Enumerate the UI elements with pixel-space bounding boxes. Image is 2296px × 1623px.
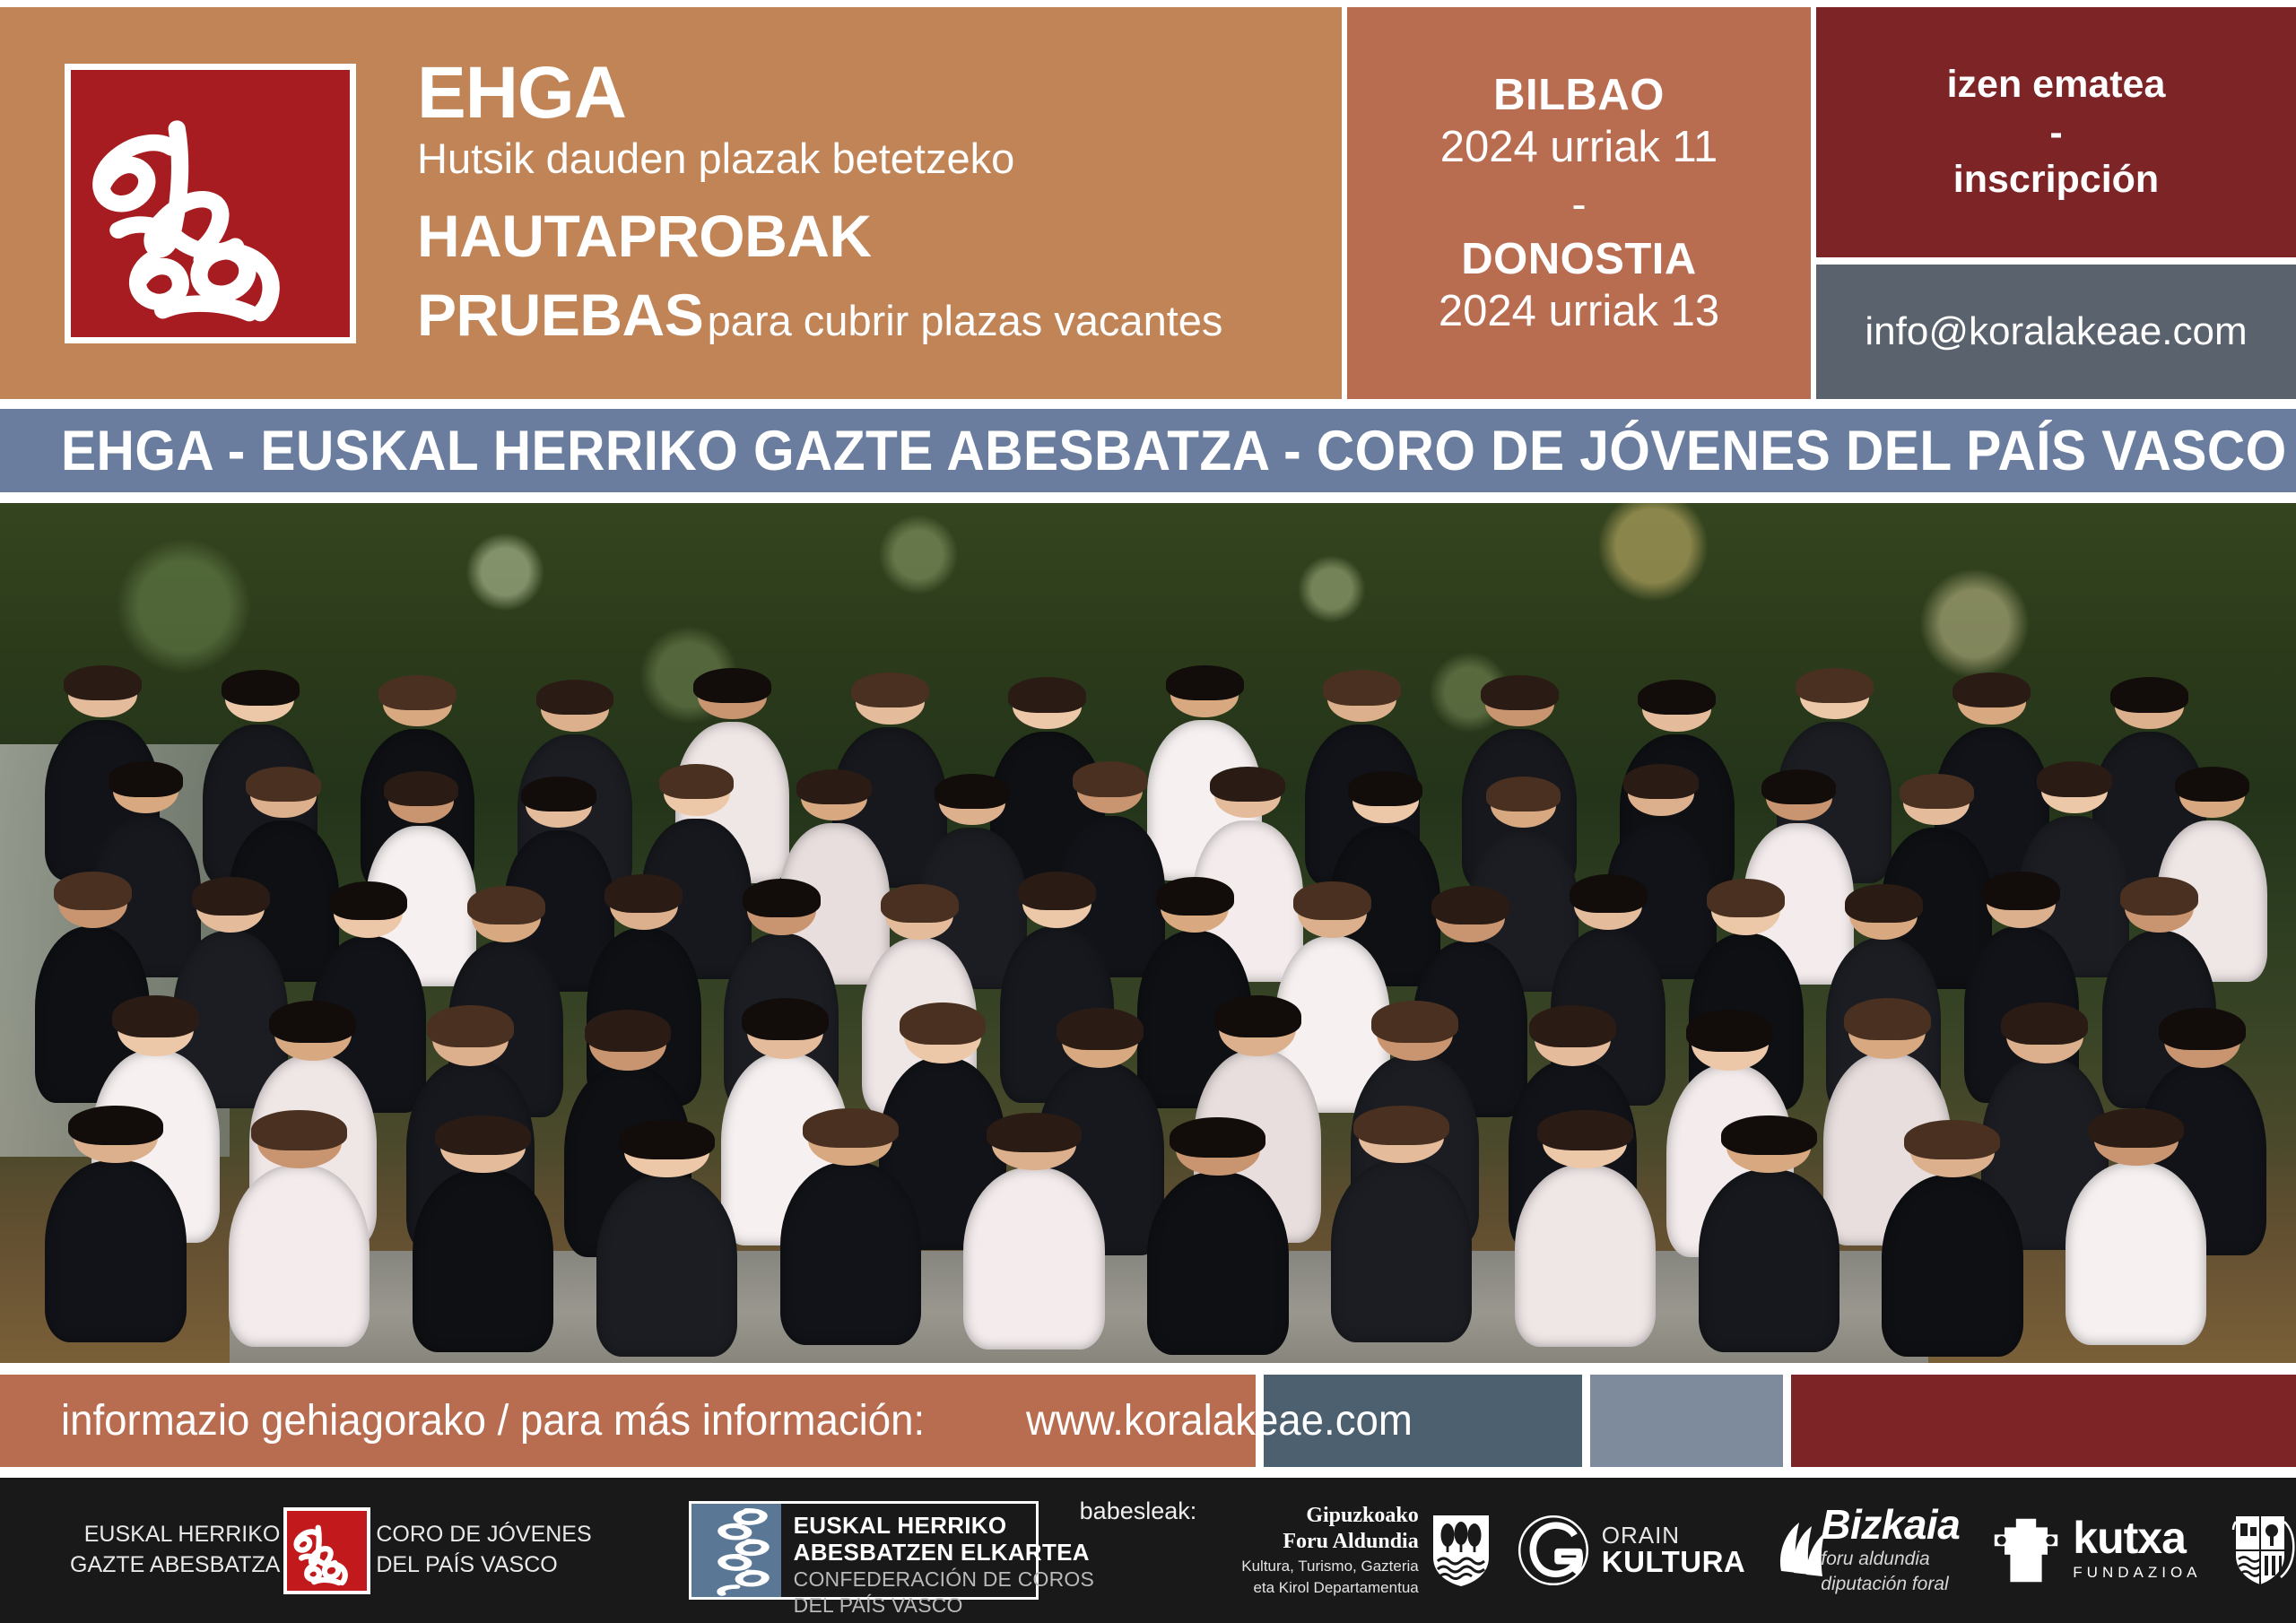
gipuzkoa-text: Gipuzkoako Foru Aldundia Kultura, Turism…	[1241, 1503, 1418, 1597]
kutxa-line2: FUNDAZIOA	[2073, 1562, 2201, 1584]
city-2-label: DONOSTIA	[1461, 234, 1697, 284]
header-title-basque: HAUTAPROBAK	[417, 202, 1222, 272]
gipuzkoa-line2: Foru Aldundia	[1241, 1529, 1418, 1554]
registration-label-spanish: inscripción	[1953, 158, 2159, 202]
eha-footer-logo: EUSKAL HERRIKO ABESBATZEN ELKARTEA CONFE…	[689, 1501, 1039, 1600]
orain-g-icon	[1516, 1513, 1591, 1588]
poster-header: EHGA Hutsik dauden plazak betetzeko HAUT…	[0, 7, 2296, 399]
header-main-panel: EHGA Hutsik dauden plazak betetzeko HAUT…	[0, 7, 1342, 399]
bizkaia-line2: foru aldundia	[1821, 1548, 1960, 1570]
gipuzkoa-line3: Kultura, Turismo, Gazteria	[1241, 1558, 1418, 1575]
choir-group-photo	[0, 503, 2296, 1363]
registration-separator: -	[2049, 114, 2062, 152]
poster-root: EHGA Hutsik dauden plazak betetzeko HAUT…	[0, 0, 2296, 1623]
orain-text: ORAIN KULTURA	[1602, 1523, 1746, 1578]
sponsor-kutxa-fundazioa: kutxa FUNDAZIOA	[1990, 1515, 2201, 1586]
dates-separator: -	[1571, 183, 1586, 227]
city-1-label: BILBAO	[1493, 70, 1665, 120]
eha-chain-logo-icon	[691, 1504, 781, 1597]
sponsor-eusko-jaurlaritza: EUSKO JAURLARITZA GOBIERNO VASCO KULTURA…	[2229, 1496, 2296, 1604]
sponsor-gipuzkoako-foru-aldundia: Gipuzkoako Foru Aldundia Kultura, Turism…	[1241, 1503, 1492, 1597]
sponsor-orain-kultura: ORAIN KULTURA	[1516, 1513, 1746, 1588]
bizkaia-line3: diputación foral	[1821, 1573, 1960, 1595]
website-link[interactable]: www.koralakeae.com	[1026, 1396, 1413, 1445]
date-1-label: 2024 urriak 11	[1440, 122, 1718, 172]
gipuzkoa-line4: eta Kirol Departamentua	[1241, 1579, 1418, 1597]
bizkaia-leaf-icon	[1776, 1517, 1826, 1584]
more-info-panel: informazio gehiagorako / para más inform…	[0, 1375, 1256, 1467]
gipuzkoa-line1: Gipuzkoako	[1241, 1503, 1418, 1528]
header-subtitle-spanish: para cubrir plazas vacantes	[708, 297, 1223, 344]
registration-label-basque: izen ematea	[1947, 63, 2166, 107]
ehga-footer-basque-line2: GAZTE ABESBATZA	[70, 1550, 280, 1581]
sponsor-footer: EUSKAL HERRIKO GAZTE ABESBATZA CORO DE	[0, 1478, 2296, 1623]
header-text-block: EHGA Hutsik dauden plazak betetzeko HAUT…	[417, 57, 1222, 349]
color-swatch-3	[1791, 1375, 2296, 1467]
ehga-scribble-logo-icon-small	[283, 1507, 370, 1594]
eha-name-line4: DEL PAÍS VASCO	[794, 1593, 1094, 1618]
choir-name-text: EHGA - EUSKAL HERRIKO GAZTE ABESBATZA - …	[61, 419, 2287, 483]
orain-line1: ORAIN	[1602, 1523, 1746, 1547]
gipuzkoa-crest-icon	[1430, 1513, 1492, 1588]
orain-line2: KULTURA	[1602, 1547, 1746, 1578]
registration-panel[interactable]: izen ematea - inscripción	[1816, 7, 2296, 257]
sponsor-bizkaia-foru-aldundia: Bizkaia foru aldundia diputación foral	[1776, 1506, 1960, 1595]
contact-email[interactable]: info@koralakeae.com	[1816, 265, 2296, 399]
header-subtitle-basque: Hutsik dauden plazak betetzeko	[417, 133, 1222, 186]
ehga-scribble-logo-icon	[65, 64, 356, 343]
kutxa-text: kutxa FUNDAZIOA	[2073, 1517, 2201, 1583]
bizkaia-text: Bizkaia foru aldundia diputación foral	[1821, 1506, 1960, 1595]
ehga-footer-spanish-name: CORO DE JÓVENES DEL PAÍS VASCO	[376, 1520, 591, 1581]
euskadi-crest-icon	[2229, 1513, 2295, 1588]
ehga-footer-spanish-line1: CORO DE JÓVENES	[376, 1520, 591, 1550]
header-right-column: izen ematea - inscripción info@koralakea…	[1816, 7, 2296, 399]
sponsor-logo-strip: Gipuzkoako Foru Aldundia Kultura, Turism…	[1214, 1496, 2296, 1604]
kutxa-block-icon	[1990, 1515, 2062, 1586]
more-info-bar: informazio gehiagorako / para más inform…	[0, 1375, 2296, 1467]
eha-name-line1: EUSKAL HERRIKO	[794, 1512, 1094, 1539]
date-2-label: 2024 urriak 13	[1439, 286, 1719, 336]
photo-choir-members	[46, 658, 2250, 1346]
eha-footer-names: EUSKAL HERRIKO ABESBATZEN ELKARTEA CONFE…	[781, 1504, 1094, 1597]
color-swatch-2	[1590, 1375, 1783, 1467]
choir-name-band: EHGA - EUSKAL HERRIKO GAZTE ABESBATZA - …	[0, 409, 2296, 492]
bizkaia-line1: Bizkaia	[1821, 1506, 1960, 1545]
kutxa-line1: kutxa	[2073, 1517, 2201, 1560]
dates-panel: BILBAO 2024 urriak 11 - DONOSTIA 2024 ur…	[1347, 7, 1811, 399]
more-info-label: informazio gehiagorako / para más inform…	[61, 1396, 925, 1445]
ehga-footer-logo: EUSKAL HERRIKO GAZTE ABESBATZA CORO DE	[70, 1507, 592, 1594]
eha-name-line2: ABESBATZEN ELKARTEA	[794, 1539, 1094, 1566]
ehga-footer-basque-name: EUSKAL HERRIKO GAZTE ABESBATZA	[70, 1520, 280, 1581]
brand-title: EHGA	[417, 57, 1222, 129]
sponsors-label: babesleak:	[1080, 1497, 1197, 1525]
header-title-spanish-line: PRUEBAS para cubrir plazas vacantes	[417, 281, 1222, 349]
eha-name-line3: CONFEDERACIÓN DE COROS	[794, 1567, 1094, 1592]
header-title-spanish: PRUEBAS	[417, 282, 703, 348]
ehga-footer-spanish-line2: DEL PAÍS VASCO	[376, 1550, 591, 1581]
ehga-footer-basque-line1: EUSKAL HERRIKO	[70, 1520, 280, 1550]
